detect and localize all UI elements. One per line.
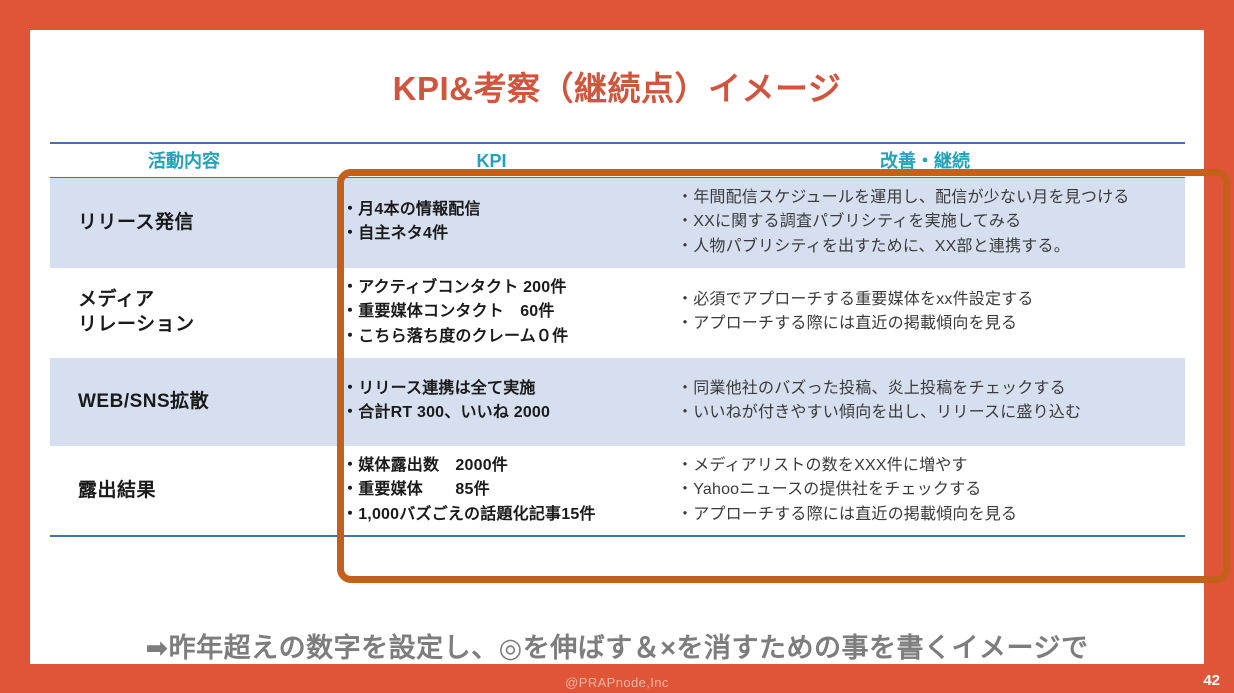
- text-line: ・XXに関する調査パブリシティを実施してみる: [677, 210, 1179, 234]
- slide: KPI&考察（継続点）イメージ 活動内容 KPI 改善・継続 リリース発信・月4…: [0, 0, 1234, 693]
- text-line: リレーション: [78, 312, 318, 337]
- column-header-improvement: 改善・継続: [665, 144, 1185, 178]
- page-title: KPI&考察（継続点）イメージ: [30, 62, 1204, 110]
- table-header-row: 活動内容 KPI 改善・継続: [50, 142, 1185, 178]
- text-line: WEB/SNS拡散: [78, 389, 318, 414]
- cell-activity: リリース発信: [50, 178, 318, 267]
- cell-kpi: ・リリース連携は全て実施・合計RT 300、いいね 2000: [318, 358, 665, 445]
- column-header-activity: 活動内容: [50, 144, 318, 178]
- table-body: リリース発信・月4本の情報配信・自主ネタ4件・年間配信スケジュールを運用し、配信…: [50, 178, 1185, 537]
- text-line: ・アクティブコンタクト 200件: [342, 276, 665, 300]
- cell-kpi: ・媒体露出数 2000件・重要媒体 85件・1,000バズごえの話題化記事15件: [318, 446, 665, 535]
- text-line: ・いいねが付きやすい傾向を出し、リリースに盛り込む: [677, 401, 1179, 425]
- text-line: メディア: [78, 287, 318, 312]
- cell-improvement: ・必須でアプローチする重要媒体をxx件設定する・アプローチする際には直近の掲載傾…: [665, 268, 1185, 357]
- text-line: ・年間配信スケジュールを運用し、配信が少ない月を見つける: [677, 186, 1179, 210]
- cell-activity: 露出結果: [50, 446, 318, 535]
- text-line: ・人物パブリシティを出すために、XX部と連携する。: [677, 235, 1179, 259]
- text-line: ・メディアリストの数をXXX件に増やす: [677, 454, 1179, 478]
- text-line: ・月4本の情報配信: [342, 198, 665, 222]
- text-line: ・自主ネタ4件: [342, 222, 665, 246]
- table-row: リリース発信・月4本の情報配信・自主ネタ4件・年間配信スケジュールを運用し、配信…: [50, 178, 1185, 268]
- text-line: ・必須でアプローチする重要媒体をxx件設定する: [677, 288, 1179, 312]
- text-line: リリース発信: [78, 210, 318, 235]
- cell-activity: WEB/SNS拡散: [50, 358, 318, 445]
- footer-credit: @PRAPnode,Inc: [0, 675, 1234, 690]
- text-line: ・1,000バズごえの話題化記事15件: [342, 503, 665, 527]
- text-line: ・重要媒体コンタクト 60件: [342, 300, 665, 324]
- text-line: ・アプローチする際には直近の掲載傾向を見る: [677, 312, 1179, 336]
- cell-improvement: ・メディアリストの数をXXX件に増やす・Yahooニュースの提供社をチェックする…: [665, 446, 1185, 535]
- cell-activity: メディアリレーション: [50, 268, 318, 357]
- text-line: ・重要媒体 85件: [342, 478, 665, 502]
- cell-improvement: ・同業他社のバズった投稿、炎上投稿をチェックする・いいねが付きやすい傾向を出し、…: [665, 358, 1185, 445]
- text-line: ・こちら落ち度のクレーム０件: [342, 325, 665, 349]
- text-line: ・リリース連携は全て実施: [342, 377, 665, 401]
- table-row: メディアリレーション・アクティブコンタクト 200件・重要媒体コンタクト 60件…: [50, 268, 1185, 358]
- cell-kpi: ・月4本の情報配信・自主ネタ4件: [318, 178, 665, 267]
- text-line: ・同業他社のバズった投稿、炎上投稿をチェックする: [677, 377, 1179, 401]
- text-line: ・媒体露出数 2000件: [342, 454, 665, 478]
- conclusion-note: ➡昨年超えの数字を設定し、◎を伸ばす＆×を消すための事を書くイメージで: [30, 626, 1204, 665]
- text-line: 露出結果: [78, 478, 318, 503]
- cell-improvement: ・年間配信スケジュールを運用し、配信が少ない月を見つける・XXに関する調査パブリ…: [665, 178, 1185, 267]
- table-row: WEB/SNS拡散・リリース連携は全て実施・合計RT 300、いいね 2000・…: [50, 358, 1185, 446]
- text-line: ・合計RT 300、いいね 2000: [342, 401, 665, 425]
- kpi-table: 活動内容 KPI 改善・継続 リリース発信・月4本の情報配信・自主ネタ4件・年間…: [50, 142, 1185, 537]
- page-number: 42: [1203, 672, 1220, 689]
- text-line: ・Yahooニュースの提供社をチェックする: [677, 478, 1179, 502]
- slide-card: KPI&考察（継続点）イメージ 活動内容 KPI 改善・継続 リリース発信・月4…: [30, 30, 1204, 664]
- cell-kpi: ・アクティブコンタクト 200件・重要媒体コンタクト 60件・こちら落ち度のクレ…: [318, 268, 665, 357]
- text-line: ・アプローチする際には直近の掲載傾向を見る: [677, 503, 1179, 527]
- column-header-kpi: KPI: [318, 144, 665, 178]
- table-row: 露出結果・媒体露出数 2000件・重要媒体 85件・1,000バズごえの話題化記…: [50, 446, 1185, 537]
